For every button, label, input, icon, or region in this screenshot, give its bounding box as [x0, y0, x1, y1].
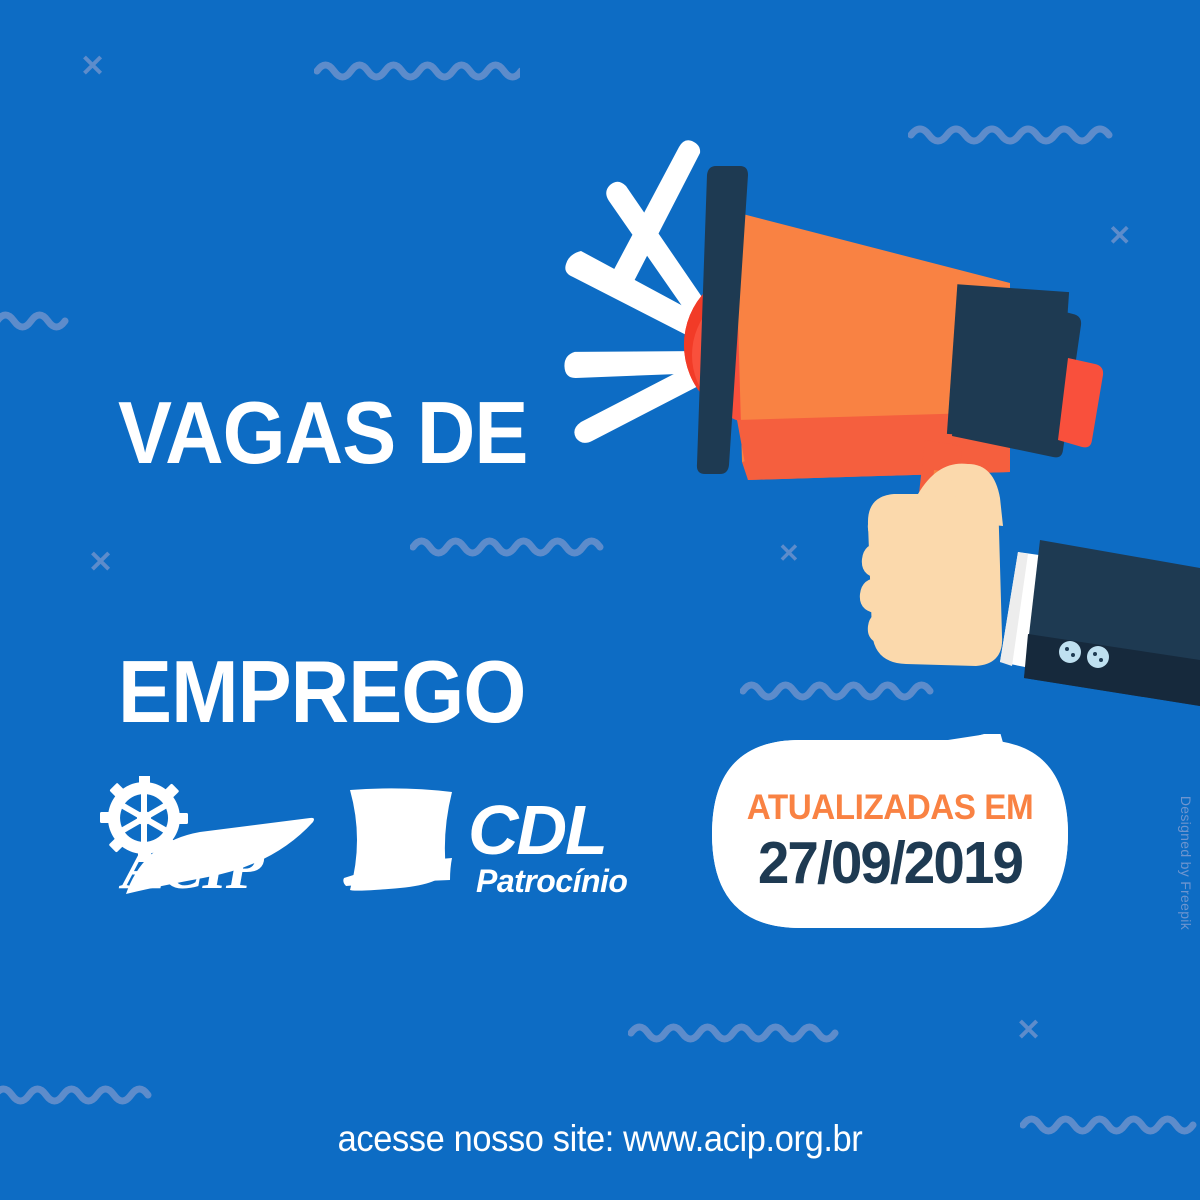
hand-icon: [860, 464, 1003, 666]
acip-logo[interactable]: ACIP: [96, 776, 322, 898]
sleeve-button-icon: [1087, 646, 1109, 668]
cdl-wordmark: CDL: [468, 791, 606, 869]
bubble-date: 27/09/2019: [719, 834, 1061, 893]
poster-canvas: ✕ ✕ ✕ ✕ ✕: [0, 0, 1200, 1200]
acip-wordmark: ACIP: [118, 834, 265, 898]
footer-website[interactable]: acesse nosso site: www.acip.org.br: [42, 1118, 1158, 1160]
updated-date-bubble: ATUALIZADAS EM 27/09/2019: [712, 734, 1068, 934]
cdl-logo[interactable]: CDL Patrocínio: [342, 782, 642, 898]
sail-shape-icon: [343, 788, 452, 890]
freepik-credit: Designed by Freepik: [1178, 796, 1194, 930]
sleeve-button-icon: [1059, 641, 1081, 663]
bubble-label: ATUALIZADAS EM: [721, 790, 1059, 825]
headline-line-2: EMPREGO: [118, 649, 528, 735]
sound-lines-icon: [563, 140, 719, 443]
headline-line-1: VAGAS DE: [118, 390, 528, 476]
megaphone-body-fill: [947, 284, 1069, 441]
cdl-subtitle: Patrocínio: [476, 863, 627, 898]
